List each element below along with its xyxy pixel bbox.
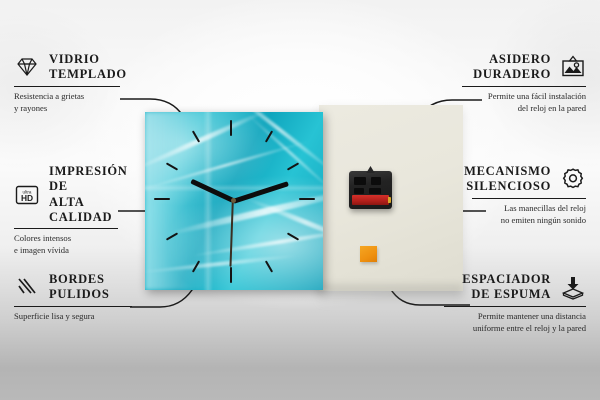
feature-subtitle: Superficie lisa y segura [14, 311, 136, 323]
feature-subtitle: Permite una fácil instalación del reloj … [462, 91, 586, 115]
clock-tick [154, 198, 170, 200]
clock-mechanism [349, 171, 392, 209]
picture-frame-hanger-icon [560, 54, 586, 80]
product-photo [135, 103, 465, 295]
clock-tick [299, 198, 315, 200]
glass-reflection-vertical [203, 112, 213, 290]
feature-title: ASIDERO DURADERO [473, 52, 551, 83]
feature-subtitle: Permite mantener una distancia uniforme … [444, 311, 586, 335]
clock-tick [287, 162, 299, 170]
clock-second-hand [230, 201, 234, 267]
mechanism-slot [369, 188, 381, 194]
feature-tempered-glass: VIDRIO TEMPLADO Resistencia a grietas y … [14, 52, 122, 115]
feature-subtitle: Colores intensos e imagen vívida [14, 233, 126, 257]
clock-tick [230, 120, 232, 136]
feature-silent-mechanism: MECANISMO SILENCIOSO Las manecillas del … [472, 164, 586, 227]
mechanism-slot [371, 177, 381, 185]
feature-rule [14, 306, 132, 307]
gear-icon [560, 166, 586, 192]
clock-center-hub [231, 198, 236, 203]
glass-reflection-horizontal [145, 184, 323, 192]
mechanism-slot [354, 188, 364, 194]
feature-title: ESPACIADOR DE ESPUMA [462, 272, 551, 303]
wall-clock-face [145, 112, 323, 290]
ultra-hd-icon: ultra HD [14, 182, 40, 208]
feature-title: BORDES PULIDOS [49, 272, 109, 303]
feature-durable-hanger: ASIDERO DURADERO Permite una fácil insta… [462, 52, 586, 115]
infographic-canvas: VIDRIO TEMPLADO Resistencia a grietas y … [0, 0, 600, 400]
foam-spacer-pad [360, 246, 377, 262]
svg-text:HD: HD [21, 193, 33, 203]
polished-edges-icon [14, 274, 40, 300]
feature-subtitle: Las manecillas del reloj no emiten ningú… [472, 203, 586, 227]
feature-rule [444, 306, 586, 307]
feature-rule [14, 86, 120, 87]
foam-spacer-icon [560, 274, 586, 300]
clock-tick [230, 267, 232, 283]
feature-subtitle: Resistencia a grietas y rayones [14, 91, 122, 115]
feature-title: IMPRESIÓN DE ALTA CALIDAD [49, 164, 128, 225]
mechanism-slot [354, 177, 366, 185]
feature-rule [472, 198, 586, 199]
feature-rule [14, 228, 118, 229]
feature-rule [462, 86, 586, 87]
feature-hd-print: ultra HD IMPRESIÓN DE ALTA CALIDAD Color… [14, 164, 126, 257]
mechanism-battery [352, 195, 389, 205]
clock-tick [265, 260, 273, 272]
feature-foam-spacer: ESPACIADOR DE ESPUMA Permite mantener un… [444, 272, 586, 335]
feature-title: MECANISMO SILENCIOSO [464, 164, 551, 195]
diamond-icon [14, 54, 40, 80]
feature-polished-edges: BORDES PULIDOS Superficie lisa y segura [14, 272, 136, 323]
feature-title: VIDRIO TEMPLADO [49, 52, 127, 83]
